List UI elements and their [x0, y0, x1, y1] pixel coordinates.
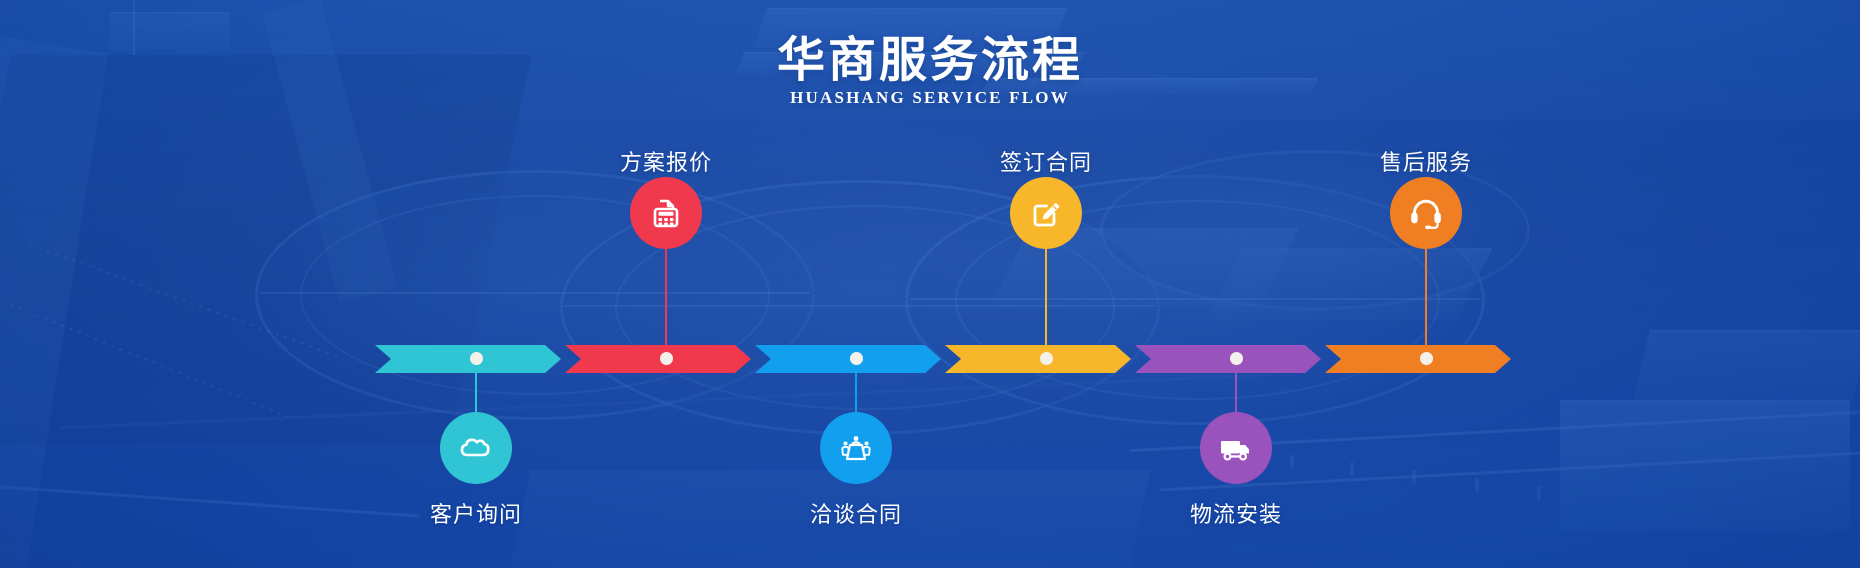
flow-arrow-segment-1[interactable]	[375, 345, 561, 373]
flow-step-label-5: 物流安装	[1126, 497, 1346, 529]
headset-support-icon	[1406, 193, 1446, 233]
flow-marker-dot-5	[1230, 352, 1243, 365]
flow-step-label-2: 方案报价	[556, 145, 776, 177]
flow-marker-dot-1	[470, 352, 483, 365]
cloud-chat-icon	[456, 428, 496, 468]
flow-arrow-segment-3[interactable]	[755, 345, 941, 373]
flow-connector-stem-4	[1045, 248, 1047, 353]
flow-step-icon-circle-6[interactable]	[1390, 177, 1462, 249]
service-flow-banner: 华商服务流程 HUASHANG SERVICE FLOW 客户询问方案报价洽谈合…	[0, 0, 1860, 568]
flow-step-icon-circle-1[interactable]	[440, 412, 512, 484]
pen-sign-icon	[1026, 193, 1066, 233]
calculator-quote-icon	[646, 193, 686, 233]
flow-connector-stem-6	[1425, 248, 1427, 353]
flow-connector-stem-2	[665, 248, 667, 353]
meeting-table-icon	[836, 428, 876, 468]
flow-step-icon-circle-2[interactable]	[630, 177, 702, 249]
service-flow-diagram: 客户询问方案报价洽谈合同签订合同物流安装售后服务	[0, 0, 1860, 568]
flow-step-icon-circle-4[interactable]	[1010, 177, 1082, 249]
flow-step-label-1: 客户询问	[366, 497, 586, 529]
flow-arrow-segment-4[interactable]	[945, 345, 1131, 373]
flow-step-icon-circle-3[interactable]	[820, 412, 892, 484]
flow-step-label-4: 签订合同	[936, 145, 1156, 177]
flow-marker-dot-4	[1040, 352, 1053, 365]
flow-arrow-segment-5[interactable]	[1135, 345, 1321, 373]
flow-marker-dot-3	[850, 352, 863, 365]
flow-arrow-segment-2[interactable]	[565, 345, 751, 373]
flow-step-icon-circle-5[interactable]	[1200, 412, 1272, 484]
flow-step-label-6: 售后服务	[1316, 145, 1536, 177]
flow-arrow-segment-6[interactable]	[1325, 345, 1511, 373]
delivery-truck-icon	[1216, 428, 1256, 468]
flow-step-label-3: 洽谈合同	[746, 497, 966, 529]
flow-marker-dot-2	[660, 352, 673, 365]
flow-marker-dot-6	[1420, 352, 1433, 365]
